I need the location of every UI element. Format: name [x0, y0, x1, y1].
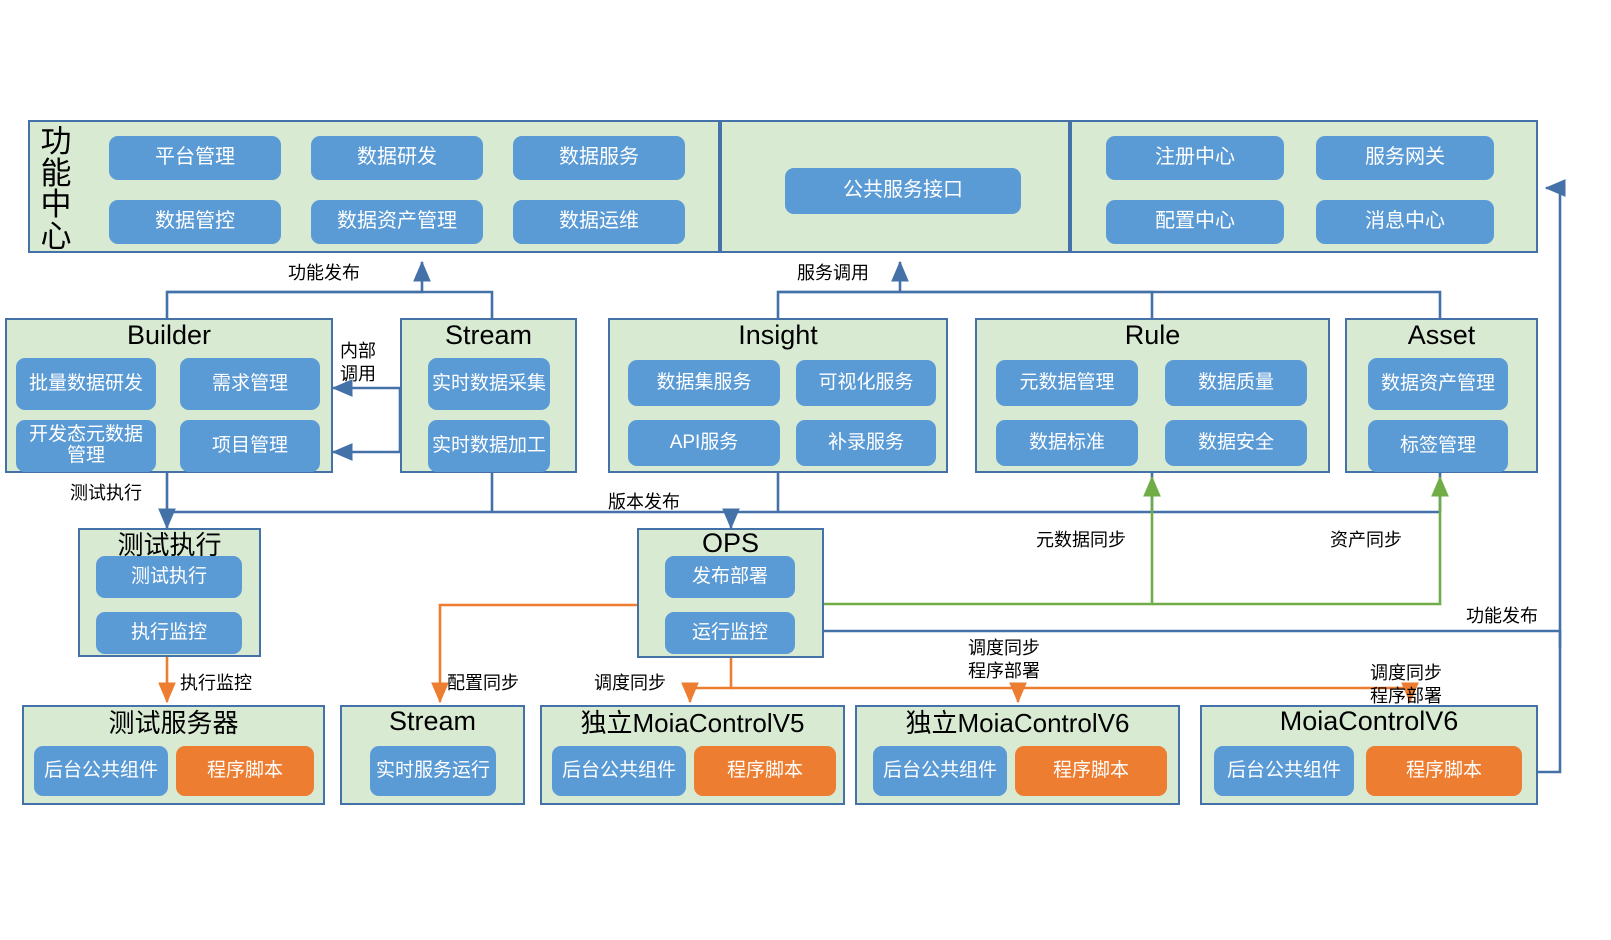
chip-data-quality[interactable]: 数据质量: [1165, 360, 1307, 406]
chip-service-gateway[interactable]: 服务网关: [1316, 136, 1494, 180]
label-asset-sync: 资产同步: [1330, 529, 1402, 552]
chip-visualization-service[interactable]: 可视化服务: [796, 360, 936, 406]
chip-sv6-backend-common-component[interactable]: 后台公共组件: [873, 746, 1007, 796]
chip-release-deploy[interactable]: 发布部署: [665, 556, 795, 598]
chip-requirement-management[interactable]: 需求管理: [180, 358, 320, 410]
chip-test-execution[interactable]: 测试执行: [96, 556, 242, 598]
chip-data-operation[interactable]: 数据运维: [513, 200, 685, 244]
server-stream-title: Stream: [340, 708, 525, 735]
chip-test-backend-common-component[interactable]: 后台公共组件: [34, 746, 168, 796]
chip-data-standard[interactable]: 数据标准: [996, 420, 1138, 466]
chip-v5-program-script[interactable]: 程序脚本: [694, 746, 836, 796]
chip-supplement-service[interactable]: 补录服务: [796, 420, 936, 466]
chip-message-center[interactable]: 消息中心: [1316, 200, 1494, 244]
chip-project-management[interactable]: 项目管理: [180, 420, 320, 472]
chip-batch-data-development[interactable]: 批量数据研发: [16, 358, 156, 410]
chip-platform-management[interactable]: 平台管理: [109, 136, 281, 180]
chip-runtime-monitoring[interactable]: 运行监控: [665, 612, 795, 654]
label-feature-publish-right: 功能发布: [1466, 605, 1538, 628]
chip-data-service[interactable]: 数据服务: [513, 136, 685, 180]
chip-tag-management[interactable]: 标签管理: [1368, 420, 1508, 472]
chip-asset-data-asset-management[interactable]: 数据资产管理: [1368, 358, 1508, 410]
platform-stream-title: Stream: [400, 322, 577, 349]
chip-data-governance[interactable]: 数据管控: [109, 200, 281, 244]
chip-api-service[interactable]: API服务: [628, 420, 780, 466]
chip-data-development[interactable]: 数据研发: [311, 136, 483, 180]
chip-config-center[interactable]: 配置中心: [1106, 200, 1284, 244]
chip-registry-center[interactable]: 注册中心: [1106, 136, 1284, 180]
label-metadata-sync: 元数据同步: [1036, 529, 1126, 552]
test-execution-title: 测试执行: [78, 532, 261, 558]
chip-v6-backend-common-component[interactable]: 后台公共组件: [1214, 746, 1354, 796]
server-moiacontrolv5-title: 独立MoiaControlV5: [540, 710, 845, 736]
chip-public-service-interface[interactable]: 公共服务接口: [785, 168, 1021, 214]
label-feature-publish-top: 功能发布: [288, 262, 360, 285]
diagram-canvas: 功能中心 平台管理 数据研发 数据服务 数据管控 数据资产管理 数据运维 公共服…: [0, 0, 1611, 940]
label-version-publish: 版本发布: [608, 491, 680, 514]
platform-asset-title: Asset: [1345, 322, 1538, 349]
chip-realtime-service-running[interactable]: 实时服务运行: [370, 746, 496, 796]
server-moiacontrolv6-title: MoiaControlV6: [1200, 708, 1538, 735]
platform-builder-title: Builder: [5, 322, 333, 349]
chip-data-security[interactable]: 数据安全: [1165, 420, 1307, 466]
label-exec-monitor: 执行监控: [180, 672, 252, 695]
chip-dataset-service[interactable]: 数据集服务: [628, 360, 780, 406]
server-standalone-moiacontrolv6-title: 独立MoiaControlV6: [855, 710, 1180, 736]
chip-data-asset-management[interactable]: 数据资产管理: [311, 200, 483, 244]
chip-v6-program-script[interactable]: 程序脚本: [1366, 746, 1522, 796]
label-schedule-deploy-3: 调度同步 程序部署: [1370, 662, 1442, 707]
label-schedule-deploy-2: 调度同步 程序部署: [968, 637, 1040, 682]
label-config-sync: 配置同步: [447, 672, 519, 695]
chip-realtime-data-collection[interactable]: 实时数据采集: [428, 358, 550, 410]
ops-title: OPS: [637, 530, 824, 557]
chip-test-program-script[interactable]: 程序脚本: [176, 746, 314, 796]
platform-insight-title: Insight: [608, 322, 948, 349]
chip-realtime-data-processing[interactable]: 实时数据加工: [428, 420, 550, 472]
function-center-title: 功能中心: [38, 126, 74, 252]
label-test-execute: 测试执行: [70, 482, 142, 505]
label-internal-call: 内部 调用: [340, 340, 376, 385]
chip-v5-backend-common-component[interactable]: 后台公共组件: [552, 746, 686, 796]
label-service-call: 服务调用: [797, 262, 869, 285]
server-test-title: 测试服务器: [22, 710, 325, 736]
chip-execution-monitoring[interactable]: 执行监控: [96, 612, 242, 654]
chip-sv6-program-script[interactable]: 程序脚本: [1015, 746, 1167, 796]
chip-metadata-management[interactable]: 元数据管理: [996, 360, 1138, 406]
platform-rule-title: Rule: [975, 322, 1330, 349]
label-schedule-sync-1: 调度同步: [594, 672, 666, 695]
chip-dev-metadata-management[interactable]: 开发态元数据管理: [16, 420, 156, 472]
